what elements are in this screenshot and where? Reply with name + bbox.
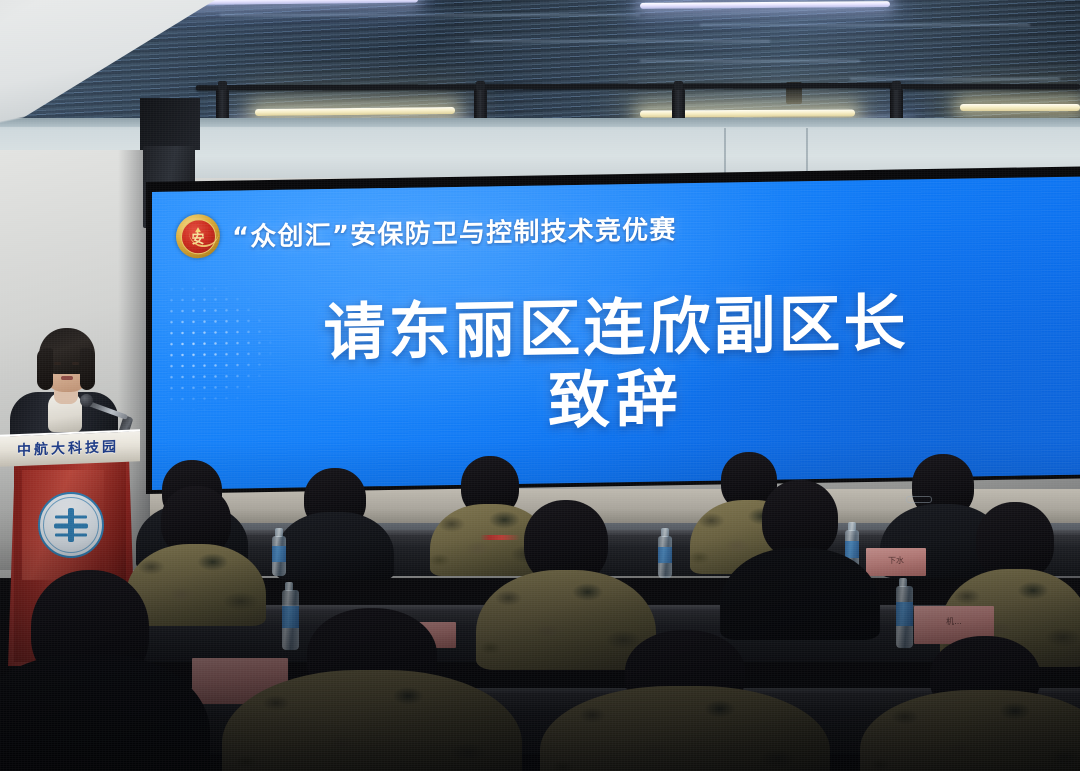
- speaker-eye-right: [72, 362, 79, 365]
- bottle-label: [658, 547, 672, 563]
- ceiling-highlight: [850, 78, 1060, 80]
- attendee-dark-1: [720, 480, 880, 640]
- ceiling-highlight: [640, 60, 860, 62]
- shoulders: [540, 686, 830, 771]
- loudspeaker-icon: [140, 98, 200, 150]
- audience-area: 下水 机...: [0, 440, 1080, 771]
- attendee-camo-6: [222, 608, 522, 771]
- conference-photo-scene: 安 “众创汇”安保防卫与控制技术竞优赛 请东丽区连欣副区长 致辞 中航大科技园: [0, 0, 1080, 771]
- shoulders: [860, 690, 1080, 771]
- ceiling-highlight: [220, 14, 640, 16]
- shoulders: [0, 654, 210, 771]
- shoulders: [222, 670, 522, 771]
- bottle-label: [272, 546, 286, 561]
- shoulders: [276, 512, 394, 580]
- water-bottle: [658, 536, 672, 578]
- attendee-dark-2: [0, 570, 210, 771]
- name-tent-text: 机...: [914, 617, 994, 626]
- ceiling-light-tube-warm: [960, 104, 1080, 111]
- speaker-mouth: [61, 376, 73, 380]
- attendee-camo-7: [540, 630, 830, 771]
- speaker-hair-left: [37, 348, 53, 390]
- eyeglasses-icon: [906, 496, 932, 503]
- bottle-label: [896, 602, 913, 626]
- ceiling-highlight: [700, 24, 1030, 26]
- microphone-icon: [80, 394, 93, 407]
- attendee-suit-2: [276, 468, 394, 580]
- speaker-hair-right: [80, 348, 95, 390]
- water-bottle: [272, 536, 286, 576]
- lighting-track-rail: [890, 84, 1080, 89]
- attendee-camo-8: [860, 636, 1080, 771]
- ceiling-highlight: [470, 40, 770, 42]
- speaker-eye-left: [54, 362, 61, 365]
- shoulders: [720, 548, 880, 640]
- head: [762, 480, 838, 558]
